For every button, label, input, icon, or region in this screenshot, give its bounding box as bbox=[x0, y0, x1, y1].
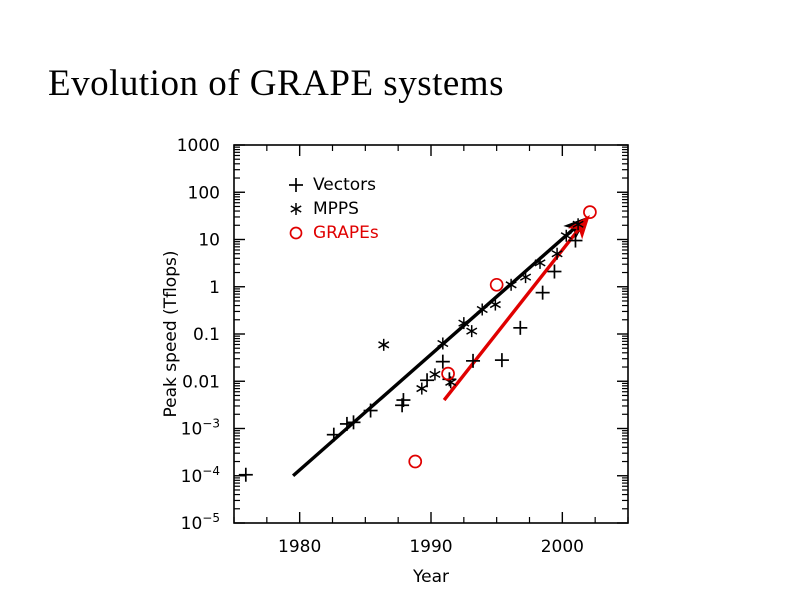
point-grapes bbox=[584, 206, 596, 218]
series-vectors bbox=[239, 234, 583, 482]
chart-figure: 10001001010.10.0110−310−410−5 1980199020… bbox=[0, 0, 800, 600]
y-tick-label: 100 bbox=[188, 183, 220, 203]
y-tick-label: 10−5 bbox=[181, 511, 220, 534]
legend-label-mpps: MPPS bbox=[313, 199, 359, 219]
series-mpps bbox=[379, 218, 584, 394]
point-grapes bbox=[491, 279, 503, 291]
x-axis-tick-labels: 198019902000 bbox=[278, 537, 584, 557]
y-tick-label: 10−4 bbox=[181, 464, 220, 487]
y-axis-tick-labels: 10001001010.10.0110−310−410−5 bbox=[177, 136, 220, 534]
legend-marker-grapes bbox=[291, 228, 302, 239]
y-axis-title: Peak speed (Tflops) bbox=[161, 251, 181, 418]
chart-legend: VectorsMPPSGRAPEs bbox=[289, 175, 379, 243]
slide-canvas: Evolution of GRAPE systems 10001001010.1… bbox=[0, 0, 800, 600]
x-tick-label: 2000 bbox=[541, 537, 584, 557]
legend-label-grapes: GRAPEs bbox=[313, 223, 379, 243]
y-tick-label: 10−3 bbox=[181, 417, 220, 440]
grape-trend-arrowhead bbox=[568, 215, 590, 239]
x-axis-title: Year bbox=[412, 567, 449, 587]
x-tick-label: 1980 bbox=[278, 537, 321, 557]
x-axis-ticks bbox=[234, 145, 628, 523]
legend-label-vectors: Vectors bbox=[313, 175, 376, 195]
vector-mpp-trend bbox=[293, 226, 577, 476]
point-grapes bbox=[409, 456, 421, 468]
y-tick-label: 10 bbox=[198, 231, 220, 251]
y-tick-label: 0.01 bbox=[182, 372, 220, 392]
plot-frame bbox=[234, 145, 628, 523]
x-tick-label: 1990 bbox=[409, 537, 452, 557]
y-tick-label: 1 bbox=[209, 278, 220, 298]
y-tick-label: 1000 bbox=[177, 136, 220, 156]
trend-lines-group bbox=[293, 215, 590, 476]
y-axis-ticks bbox=[234, 145, 628, 523]
y-tick-label: 0.1 bbox=[193, 325, 220, 345]
data-markers-group bbox=[239, 206, 596, 482]
chart-svg: 10001001010.10.0110−310−410−5 1980199020… bbox=[0, 0, 800, 600]
point-grapes bbox=[442, 368, 454, 380]
